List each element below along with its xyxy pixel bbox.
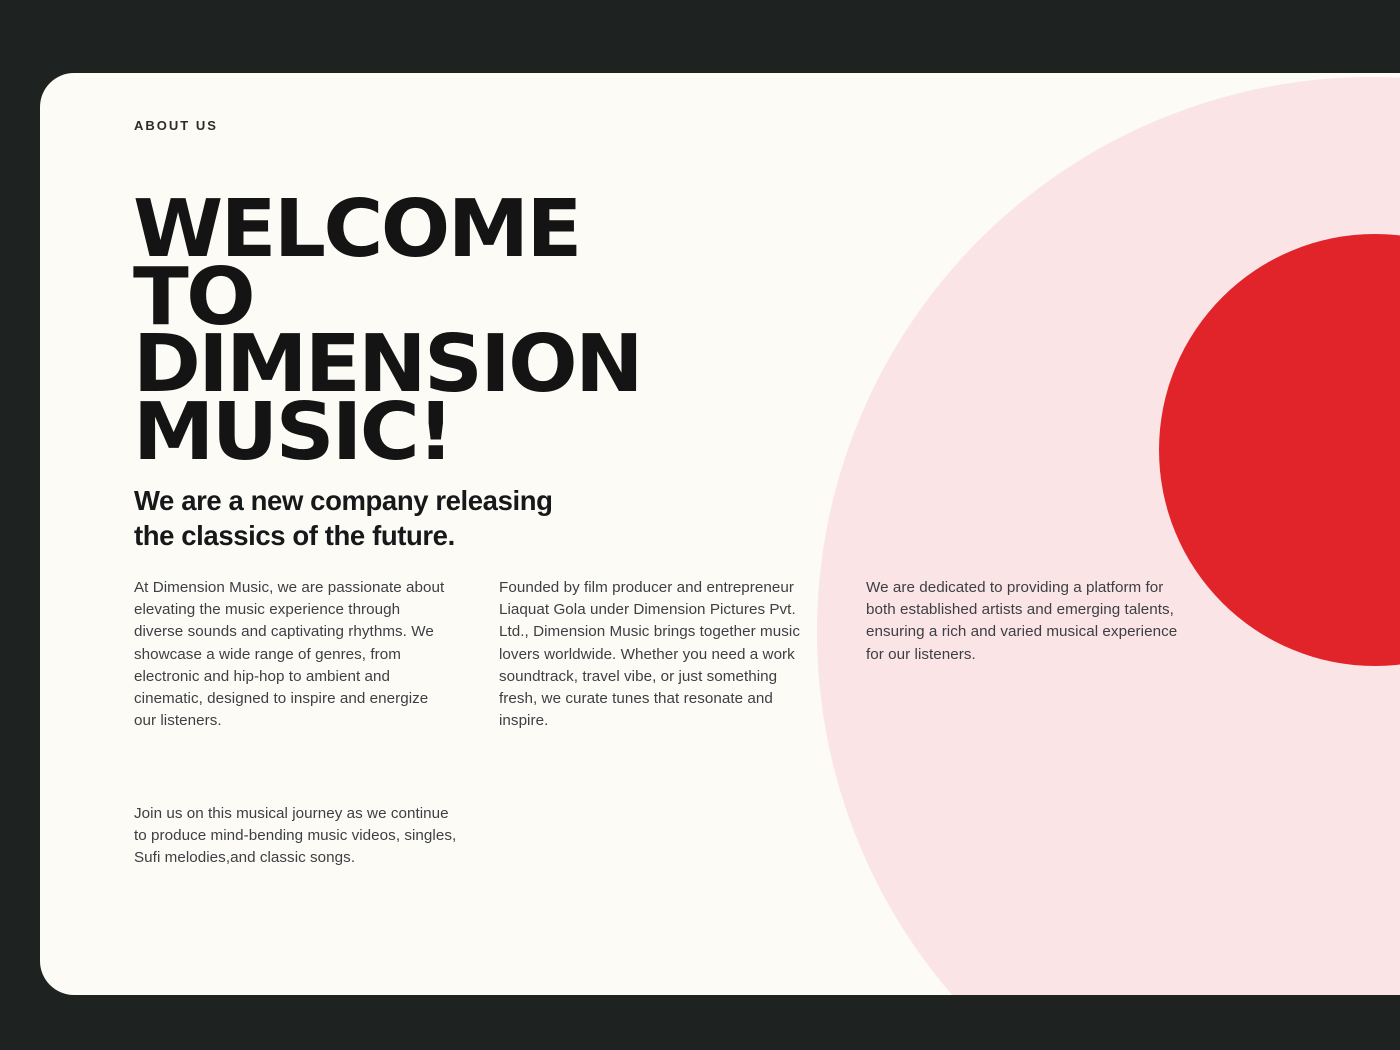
body-column-3: We are dedicated to providing a platform… xyxy=(866,577,1191,666)
body-column-1: At Dimension Music, we are passionate ab… xyxy=(134,577,450,732)
body-column-4: Join us on this musical journey as we co… xyxy=(134,803,464,870)
body-paragraph: Join us on this musical journey as we co… xyxy=(134,803,464,870)
card-content: ABOUT US WELCOME TO DIMENSION MUSIC! We … xyxy=(40,73,1400,995)
body-paragraph: We are dedicated to providing a platform… xyxy=(866,577,1191,666)
subtitle-line-2: the classics of the future. xyxy=(134,518,694,553)
about-us-card: ABOUT US WELCOME TO DIMENSION MUSIC! We … xyxy=(40,73,1400,995)
page-title: WELCOME TO DIMENSION MUSIC! xyxy=(133,196,775,466)
section-eyebrow: ABOUT US xyxy=(134,118,218,133)
subtitle-line-1: We are a new company releasing xyxy=(134,483,694,518)
slide-canvas: ABOUT US WELCOME TO DIMENSION MUSIC! We … xyxy=(0,0,1400,1050)
body-column-2: Founded by film producer and entrepreneu… xyxy=(499,577,817,732)
page-subtitle: We are a new company releasing the class… xyxy=(134,483,694,553)
body-paragraph: Founded by film producer and entrepreneu… xyxy=(499,577,817,732)
body-paragraph: At Dimension Music, we are passionate ab… xyxy=(134,577,450,732)
